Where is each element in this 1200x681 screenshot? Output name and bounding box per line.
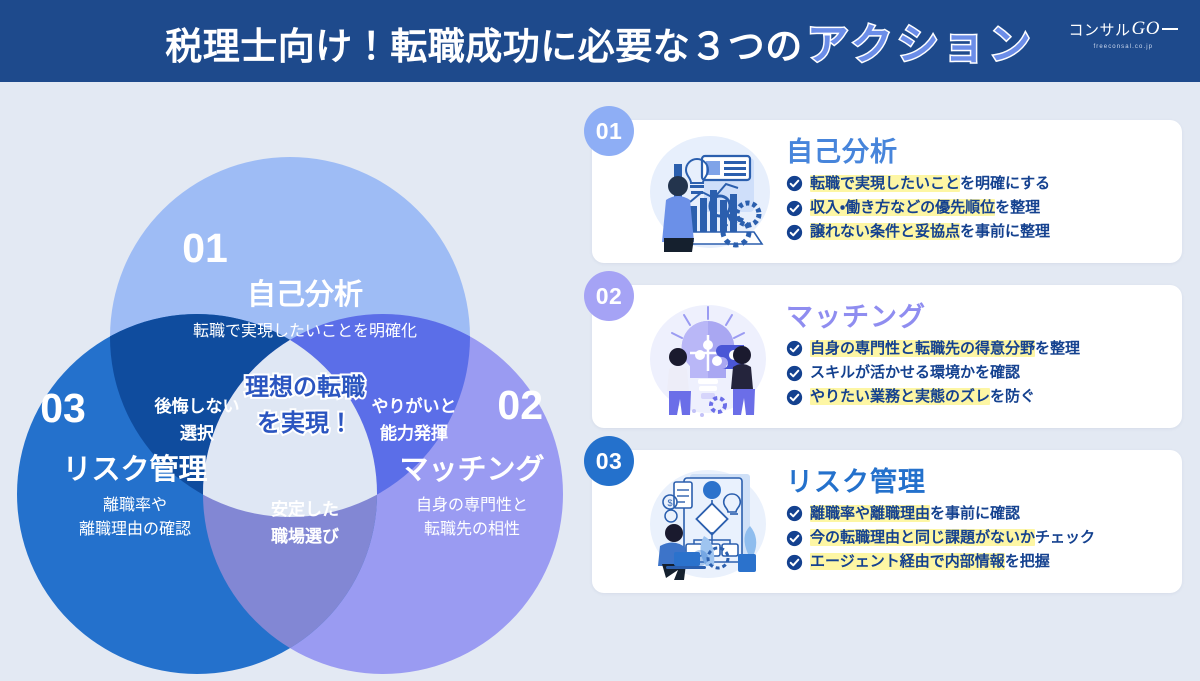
venn-center-line2: を実現！ [257, 410, 353, 437]
step-badge-02-label: 02 [596, 283, 623, 310]
venn-overlap-label-top-left-line2: 選択 [180, 423, 215, 443]
page-title-accent: アクション [807, 11, 1035, 72]
step-bullet-rest: を整理 [1035, 340, 1080, 357]
step-bullet-highlight: エージェント経由で内部情報 [810, 553, 1005, 570]
risk-management-illustration: $ [644, 458, 772, 586]
venn-num-02: 02 [497, 382, 543, 428]
page-title: 税理士向け！転職成功に必要な３つのアクション [165, 11, 1034, 72]
check-icon [786, 175, 803, 192]
step-bullet-rest: を防ぐ [990, 388, 1035, 405]
brand-logo: コンサルGO freeconsal.co.jp [1069, 18, 1178, 50]
step-badge-01-label: 01 [596, 118, 623, 145]
venn-desc-02-line1: 自身の専門性と [416, 496, 528, 514]
venn-desc-02-line2: 転職先の相性 [424, 520, 520, 538]
brand-logo-url: freeconsal.co.jp [1093, 44, 1153, 50]
venn-desc-03-line1: 離職率や [103, 496, 167, 514]
venn-overlap-label-top-right-line2: 能力発揮 [380, 423, 448, 443]
step-bullet-highlight: 今の転職理由と同じ課題がないか [810, 529, 1035, 546]
venn-desc-01: 転職で実現したいことを明確化 [193, 322, 417, 340]
step-bullet-rest: を事前に確認 [930, 505, 1020, 522]
step-bullet: スキルが活かせる環境かを確認 [786, 361, 1166, 385]
self-analysis-illustration [644, 128, 772, 256]
step-title-01: 自己分析 [786, 138, 1166, 166]
step-bullet: 離職率や離職理由を事前に確認 [786, 502, 1166, 526]
check-icon [786, 200, 803, 217]
step-badge-01: 01 [584, 106, 634, 156]
venn-overlap-label-top-left-line1: 後悔しない [154, 396, 240, 416]
step-title-02: マッチング [786, 303, 1166, 331]
step-bullet: 収入・働き方などの優先順位を整理 [786, 196, 1166, 220]
step-bullet-highlight: 離職率や離職理由 [810, 505, 930, 522]
venn-overlap-label-top-right-line1: やりがいと [372, 396, 457, 416]
check-icon [786, 505, 803, 522]
svg-text:$: $ [667, 498, 672, 508]
brand-logo-kana: コンサル [1069, 19, 1131, 40]
check-icon [786, 340, 803, 357]
step-bullet-highlight: 譲れない条件と妥協点 [810, 223, 960, 240]
check-icon [786, 530, 803, 547]
step-card-03[interactable]: 03 $ [592, 450, 1182, 593]
step-card-01-body: 自己分析 転職で実現したいことを明確にする 収入・働き方などの優先順位を整理 譲… [772, 138, 1182, 244]
step-bullet: 今の転職理由と同じ課題がないかチェック [786, 526, 1166, 550]
check-icon [786, 365, 803, 382]
step-bullet-rest: を明確にする [960, 175, 1050, 192]
venn-diagram: 01 自己分析 転職で実現したいことを明確化 02 マッチング 自身の専門性と … [0, 82, 580, 676]
brand-logo-mark: GO [1132, 18, 1160, 40]
check-icon [786, 389, 803, 406]
matching-puzzle-illustration [644, 293, 772, 421]
venn-num-03: 03 [40, 385, 86, 431]
step-bullet: エージェント経由で内部情報を把握 [786, 550, 1166, 574]
venn-overlap-label-bottom-line1: 安定した [271, 499, 339, 519]
venn-num-01: 01 [182, 225, 228, 271]
step-bullet: やりたい業務と実態のズレを防ぐ [786, 385, 1166, 409]
step-bullet-highlight: やりたい業務と実態のズレ [810, 388, 990, 405]
step-card-01[interactable]: 01 [592, 120, 1182, 263]
venn-title-03: リスク管理 [62, 452, 207, 486]
step-bullet-rest: チェック [1035, 529, 1095, 546]
step-badge-02: 02 [584, 271, 634, 321]
brand-logo-dash [1162, 28, 1178, 30]
venn-title-02: マッチング [399, 453, 544, 486]
steps-card-list: 01 [592, 120, 1182, 615]
step-bullet-highlight: 自身の専門性と転職先の得意分野 [810, 340, 1035, 357]
step-bullet-rest: を把握 [1005, 553, 1050, 570]
venn-title-01: 自己分析 [247, 278, 363, 311]
page-title-main: 税理士向け！転職成功に必要な３つの [165, 16, 803, 70]
step-bullet-rest: スキルが活かせる環境かを確認 [810, 364, 1020, 381]
venn-overlap-label-bottom-line2: 職場選び [271, 526, 339, 546]
step-bullet-rest: を事前に整理 [960, 223, 1050, 240]
step-badge-03-label: 03 [596, 448, 623, 475]
venn-desc-03-line2: 離職理由の確認 [79, 520, 191, 538]
step-card-03-body: リスク管理 離職率や離職理由を事前に確認 今の転職理由と同じ課題がないかチェック… [772, 468, 1182, 574]
step-bullet-rest: を整理 [995, 199, 1040, 216]
brand-logo-text: コンサルGO [1069, 18, 1178, 40]
step-bullet-highlight: 転職で実現したいこと [810, 175, 960, 192]
step-bullet: 譲れない条件と妥協点を事前に整理 [786, 220, 1166, 244]
step-card-02[interactable]: 02 [592, 285, 1182, 428]
step-title-03: リスク管理 [786, 468, 1166, 496]
step-bullet: 自身の専門性と転職先の得意分野を整理 [786, 337, 1166, 361]
step-badge-03: 03 [584, 436, 634, 486]
step-bullet-highlight: 収入・働き方などの優先順位 [810, 199, 995, 216]
step-card-02-body: マッチング 自身の専門性と転職先の得意分野を整理 スキルが活かせる環境かを確認 … [772, 303, 1182, 409]
step-bullet: 転職で実現したいことを明確にする [786, 172, 1166, 196]
venn-center-line1: 理想の転職 [245, 373, 365, 401]
check-icon [786, 554, 803, 571]
page-header: 税理士向け！転職成功に必要な３つのアクション コンサルGO freeconsal… [0, 0, 1200, 82]
check-icon [786, 224, 803, 241]
